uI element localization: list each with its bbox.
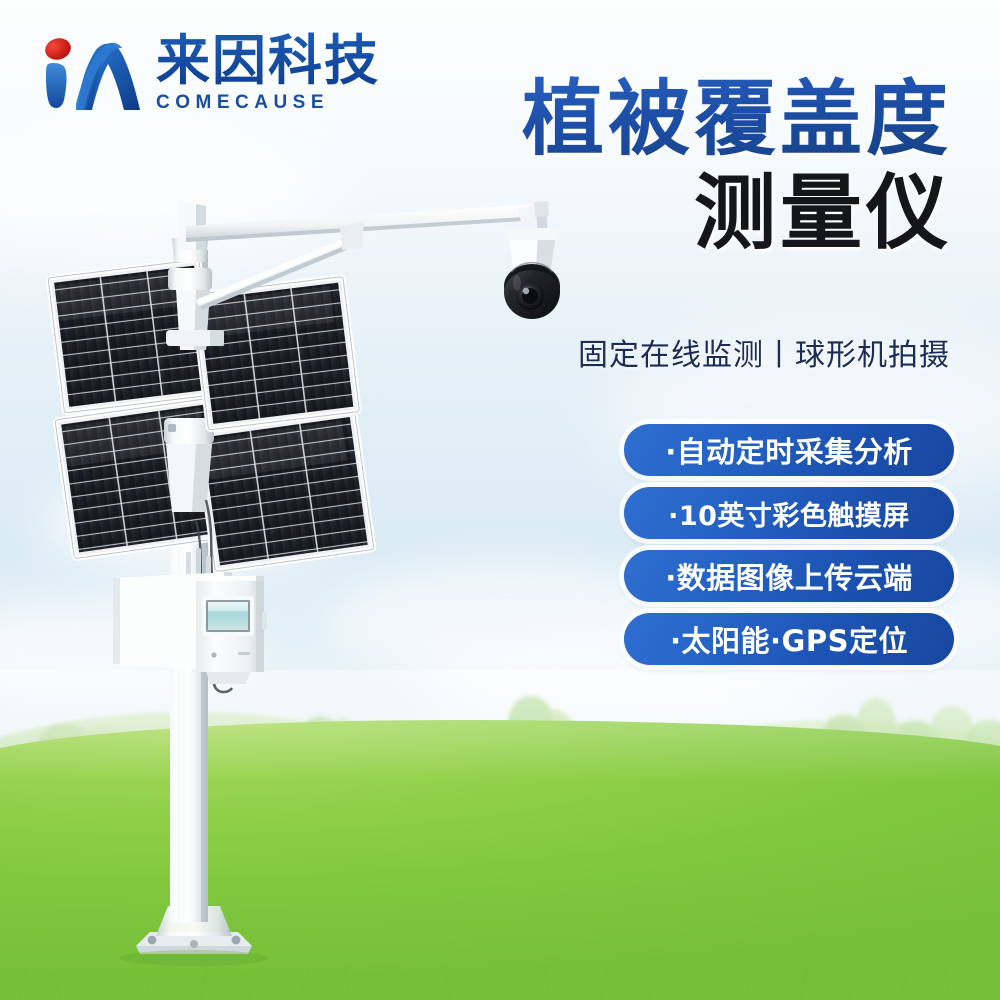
feature-pill-label: ·数据图像上传云端 bbox=[665, 555, 913, 597]
cabinet-hinge bbox=[262, 612, 267, 630]
feature-pill-label: ·10英寸彩色触摸屏 bbox=[668, 494, 910, 533]
touch-screen bbox=[202, 596, 254, 636]
comecause-ia-monogram-icon bbox=[34, 30, 146, 122]
brand-name-cn: 来因科技 bbox=[156, 32, 380, 90]
panel-mount-hub-lower bbox=[164, 418, 214, 512]
feature-pill-label: ·太阳能·GPS定位 bbox=[670, 618, 908, 660]
feature-pill-touchscreen[interactable]: ·10英寸彩色触摸屏 bbox=[624, 487, 954, 539]
feature-pill-cloud-upload[interactable]: ·数据图像上传云端 bbox=[624, 550, 954, 602]
feature-pill-auto-collection[interactable]: ·自动定时采集分析 bbox=[624, 424, 954, 476]
subtitle: 固定在线监测丨球形机拍摄 bbox=[430, 330, 950, 374]
feature-pill-solar-gps[interactable]: ·太阳能·GPS定位 bbox=[624, 613, 954, 665]
feature-pill-label: ·自动定时采集分析 bbox=[665, 429, 913, 471]
page-title: 植被覆盖度 测量仪 bbox=[432, 74, 952, 262]
brand-logo[interactable]: 来因科技 COMECAUSE bbox=[34, 26, 394, 132]
title-line-1: 植被覆盖度 bbox=[432, 74, 952, 166]
title-line-2: 测量仪 bbox=[432, 166, 952, 262]
product-promo-poster: 来因科技 COMECAUSE 植被覆盖度 测量仪 固定在线监测丨球形机拍摄 ·自… bbox=[0, 0, 1000, 1000]
cabinet-lock bbox=[211, 652, 216, 657]
feature-list: ·自动定时采集分析 ·10英寸彩色触摸屏 ·数据图像上传云端 ·太阳能·GPS定… bbox=[624, 424, 954, 676]
brand-name-en: COMECAUSE bbox=[156, 92, 380, 114]
solar-panel-bottom-right bbox=[196, 411, 374, 572]
